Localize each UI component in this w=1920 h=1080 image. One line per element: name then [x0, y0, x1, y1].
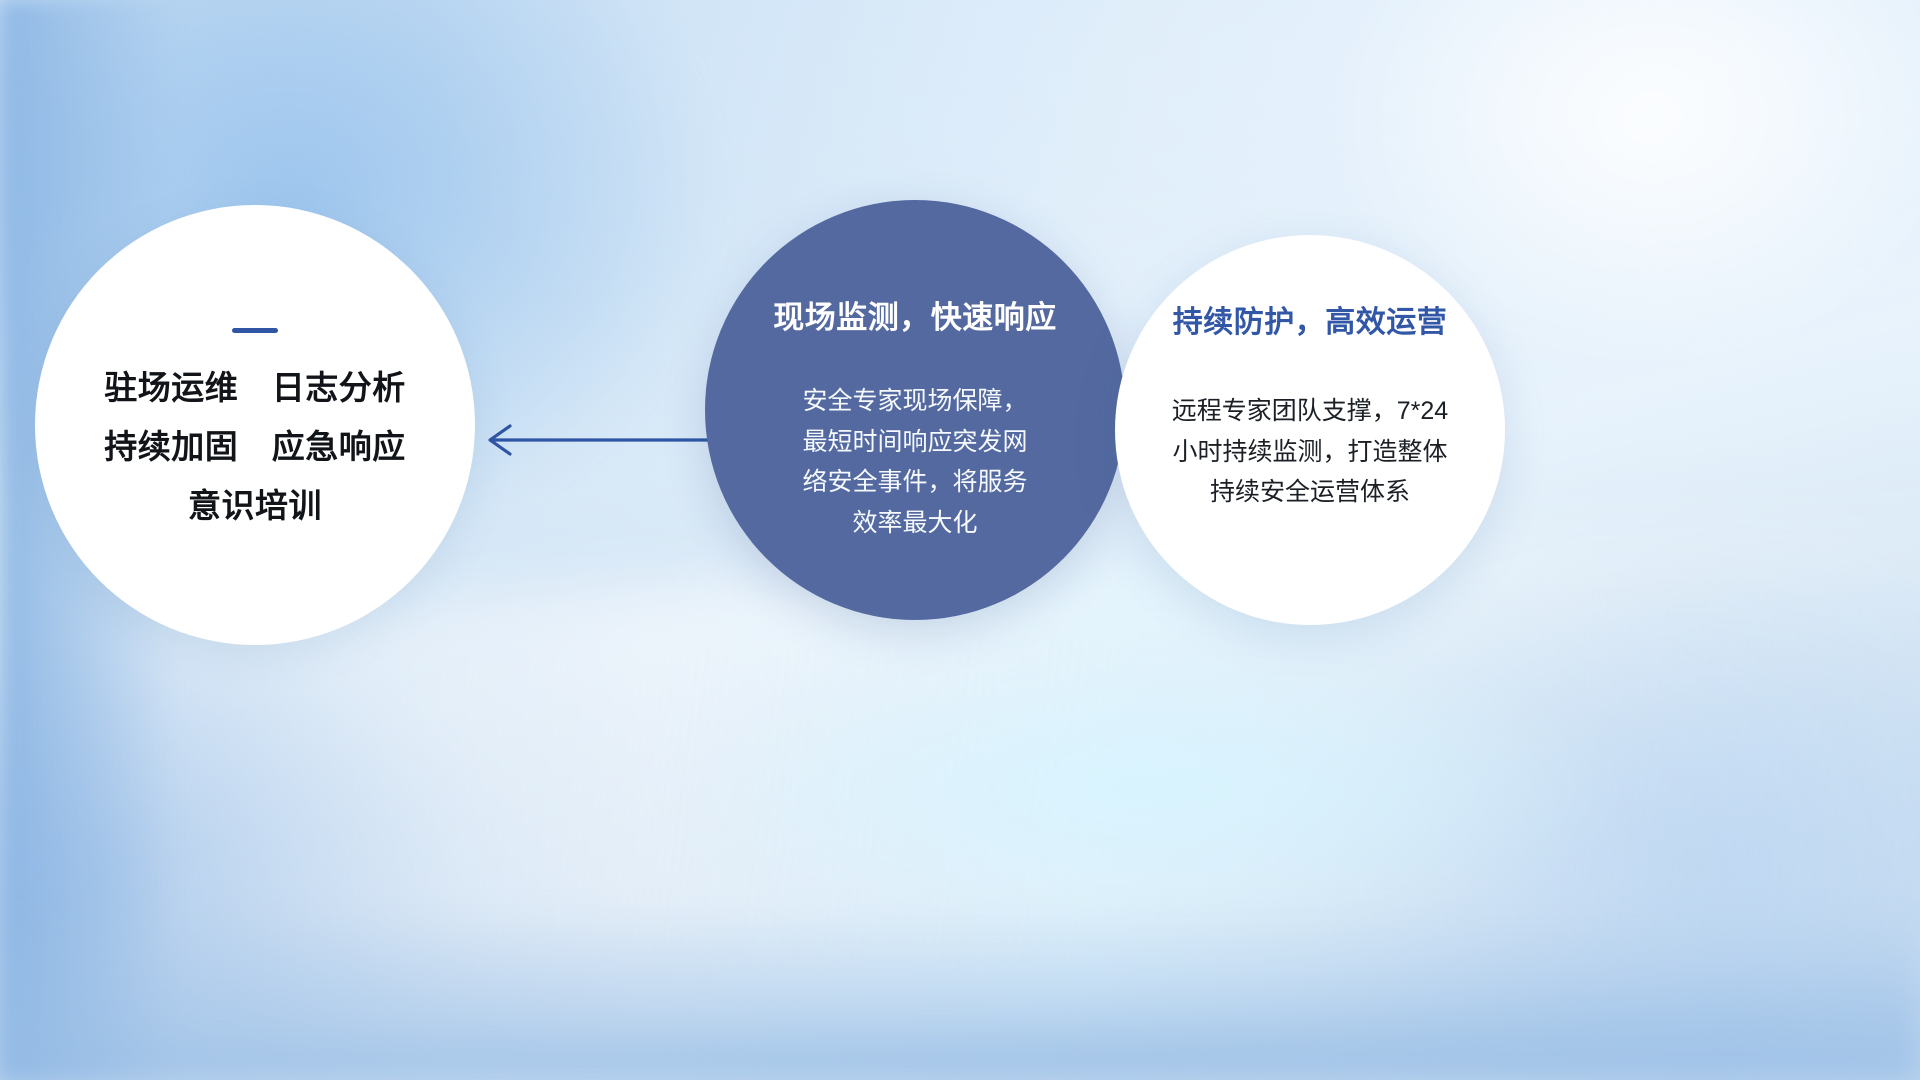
divider-dash: [232, 328, 278, 333]
left-service-line: 驻场运维 日志分析: [104, 371, 406, 404]
background-edge-bottom: [0, 907, 1920, 1080]
middle-feature-circle: 现场监测，快速响应 安全专家现场保障， 最短时间响应突发网 络安全事件，将服务 …: [705, 200, 1125, 620]
middle-body-line: 安全专家现场保障，: [775, 381, 1055, 422]
right-body-text: 远程专家团队支撑，7*24 小时持续监测，打造整体 持续安全运营体系: [1155, 391, 1465, 513]
left-service-circle: 驻场运维 日志分析 持续加固 应急响应 意识培训: [35, 205, 475, 645]
right-heading: 持续防护，高效运营: [1173, 297, 1448, 341]
right-body-line: 小时持续监测，打造整体: [1155, 432, 1465, 473]
left-service-line: 意识培训: [188, 489, 322, 522]
right-body-line: 远程专家团队支撑，7*24: [1155, 391, 1465, 432]
left-service-line: 持续加固 应急响应: [104, 430, 406, 463]
middle-heading: 现场监测，快速响应: [773, 292, 1057, 337]
middle-body-line: 效率最大化: [775, 503, 1055, 544]
right-feature-circle: 持续防护，高效运营 远程专家团队支撑，7*24 小时持续监测，打造整体 持续安全…: [1115, 235, 1505, 625]
arrow-icon: [480, 408, 720, 472]
background-light-pool: [576, 626, 1728, 950]
middle-body-line: 络安全事件，将服务: [775, 462, 1055, 503]
middle-body-text: 安全专家现场保障， 最短时间响应突发网 络安全事件，将服务 效率最大化: [775, 381, 1055, 543]
middle-body-line: 最短时间响应突发网: [775, 422, 1055, 463]
right-body-line: 持续安全运营体系: [1155, 472, 1465, 513]
